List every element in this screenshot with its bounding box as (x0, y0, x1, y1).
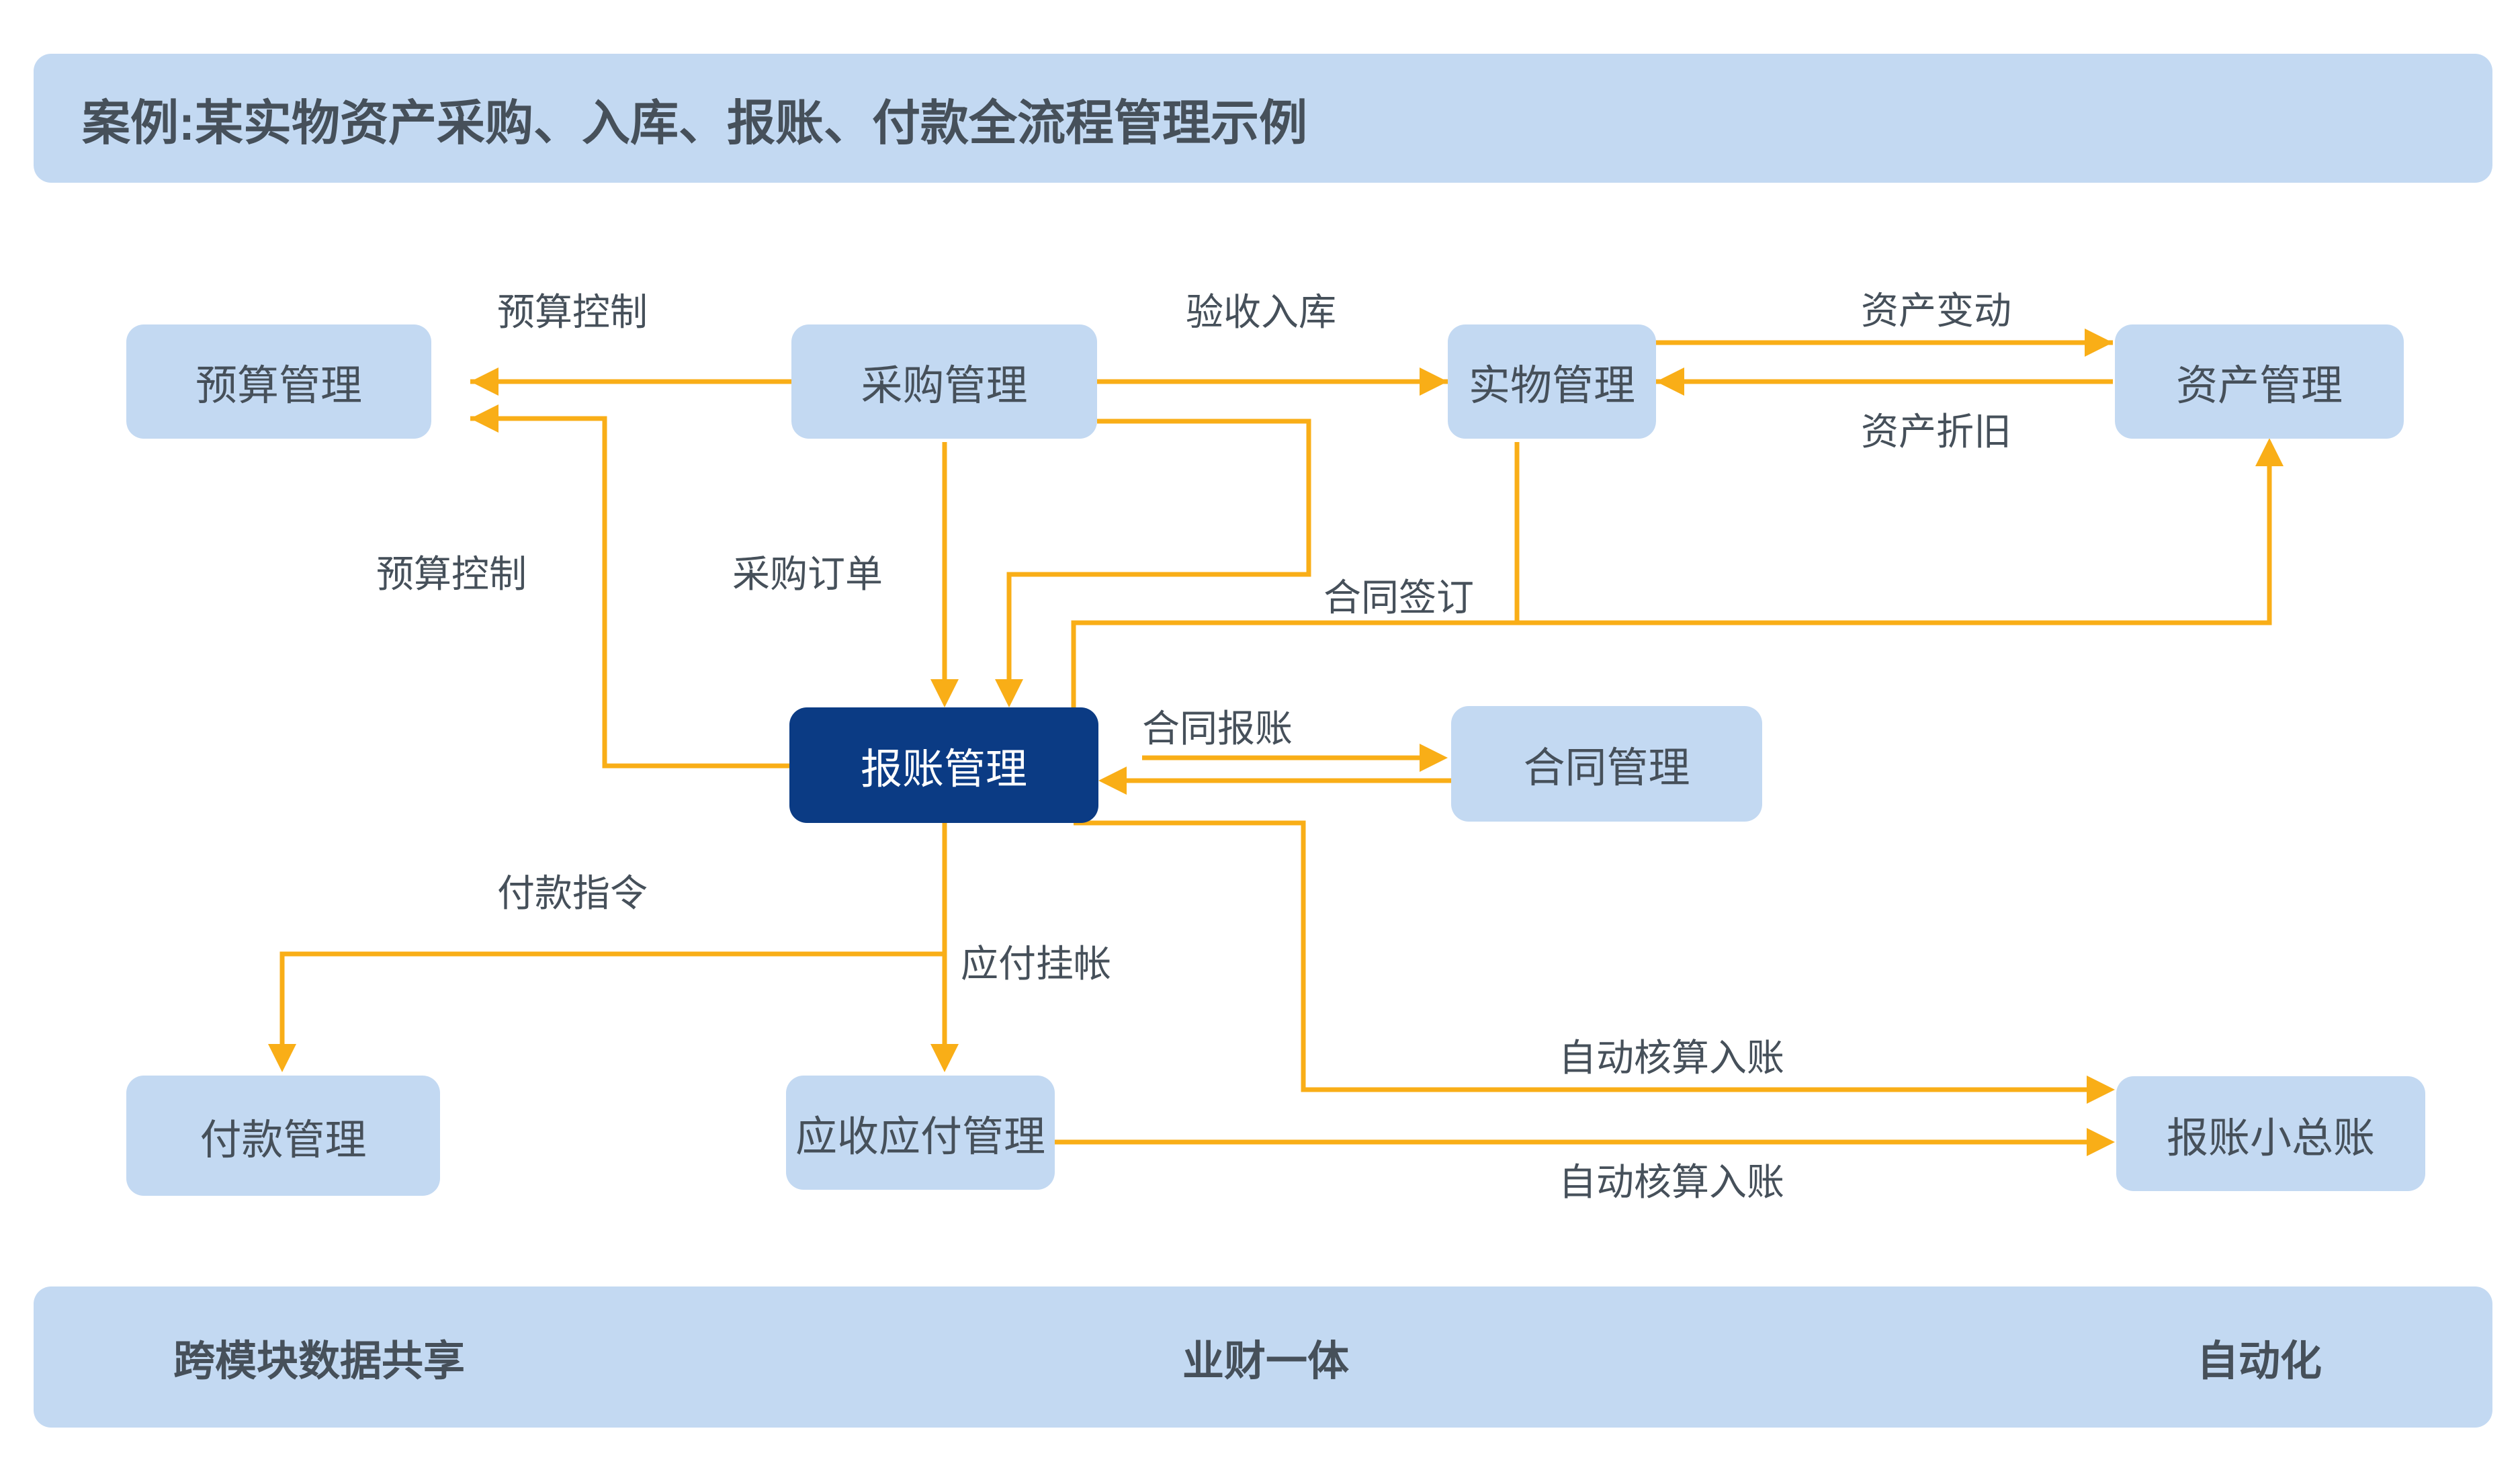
node-contract[interactable]: 合同管理 (1451, 706, 1762, 822)
edge-label-purchase-order: 采购订单 (732, 544, 883, 599)
node-budget[interactable]: 预算管理 (126, 324, 431, 439)
edge-label-auto-accounting-lower: 自动核算入账 (1559, 1152, 1784, 1207)
edge-asset-depreciation (1656, 367, 2113, 396)
edge-label-acceptance-storage: 验收入库 (1186, 282, 1336, 337)
node-arap-label: 应收应付管理 (795, 1102, 1045, 1163)
node-purchase[interactable]: 采购管理 (791, 324, 1097, 439)
node-ledger[interactable]: 报账小总账 (2116, 1076, 2425, 1191)
edge-purchase-secondary (995, 421, 1309, 707)
node-physical[interactable]: 实物管理 (1448, 324, 1656, 439)
edge-acceptance-storage (1097, 367, 1448, 396)
edge-label-contract-claim: 合同报账 (1142, 699, 1293, 753)
node-claim[interactable]: 报账管理 (789, 707, 1098, 823)
edge-label-payment-instruction: 付款指令 (497, 863, 648, 918)
edge-label-budget-control-top: 预算控制 (497, 282, 648, 337)
node-asset-label: 资产管理 (2176, 351, 2343, 412)
edge-label-auto-accounting-upper: 自动核算入账 (1559, 1028, 1784, 1082)
edge-purchase-order (930, 442, 959, 707)
edge-payable-posting (930, 823, 959, 1072)
node-claim-label: 报账管理 (861, 735, 1027, 795)
edge-label-asset-depreciation: 资产折旧 (1861, 402, 2011, 456)
edge-label-payable-posting: 应付挂帐 (961, 934, 1111, 988)
edge-label-asset-change: 资产变动 (1861, 281, 2011, 335)
edge-payment-instruction (268, 823, 945, 1072)
edge-contract-return (1098, 767, 1451, 795)
node-purchase-label: 采购管理 (861, 351, 1027, 412)
node-asset[interactable]: 资产管理 (2115, 324, 2404, 439)
edge-label-budget-control-bottom: 预算控制 (376, 544, 527, 599)
node-payment-label: 付款管理 (200, 1106, 366, 1166)
edge-budget-control-top (470, 367, 791, 396)
node-budget-label: 预算管理 (195, 351, 362, 412)
node-ledger-label: 报账小总账 (2167, 1104, 2375, 1164)
node-contract-label: 合同管理 (1523, 734, 1690, 794)
edge-label-contract-signing: 合同签订 (1323, 568, 1474, 622)
node-payment[interactable]: 付款管理 (126, 1076, 440, 1196)
node-arap[interactable]: 应收应付管理 (786, 1076, 1055, 1190)
diagram-canvas: 案例:某实物资产采购、入库、报账、付款全流程管理示例 (0, 0, 2520, 1484)
node-physical-label: 实物管理 (1469, 351, 1635, 412)
